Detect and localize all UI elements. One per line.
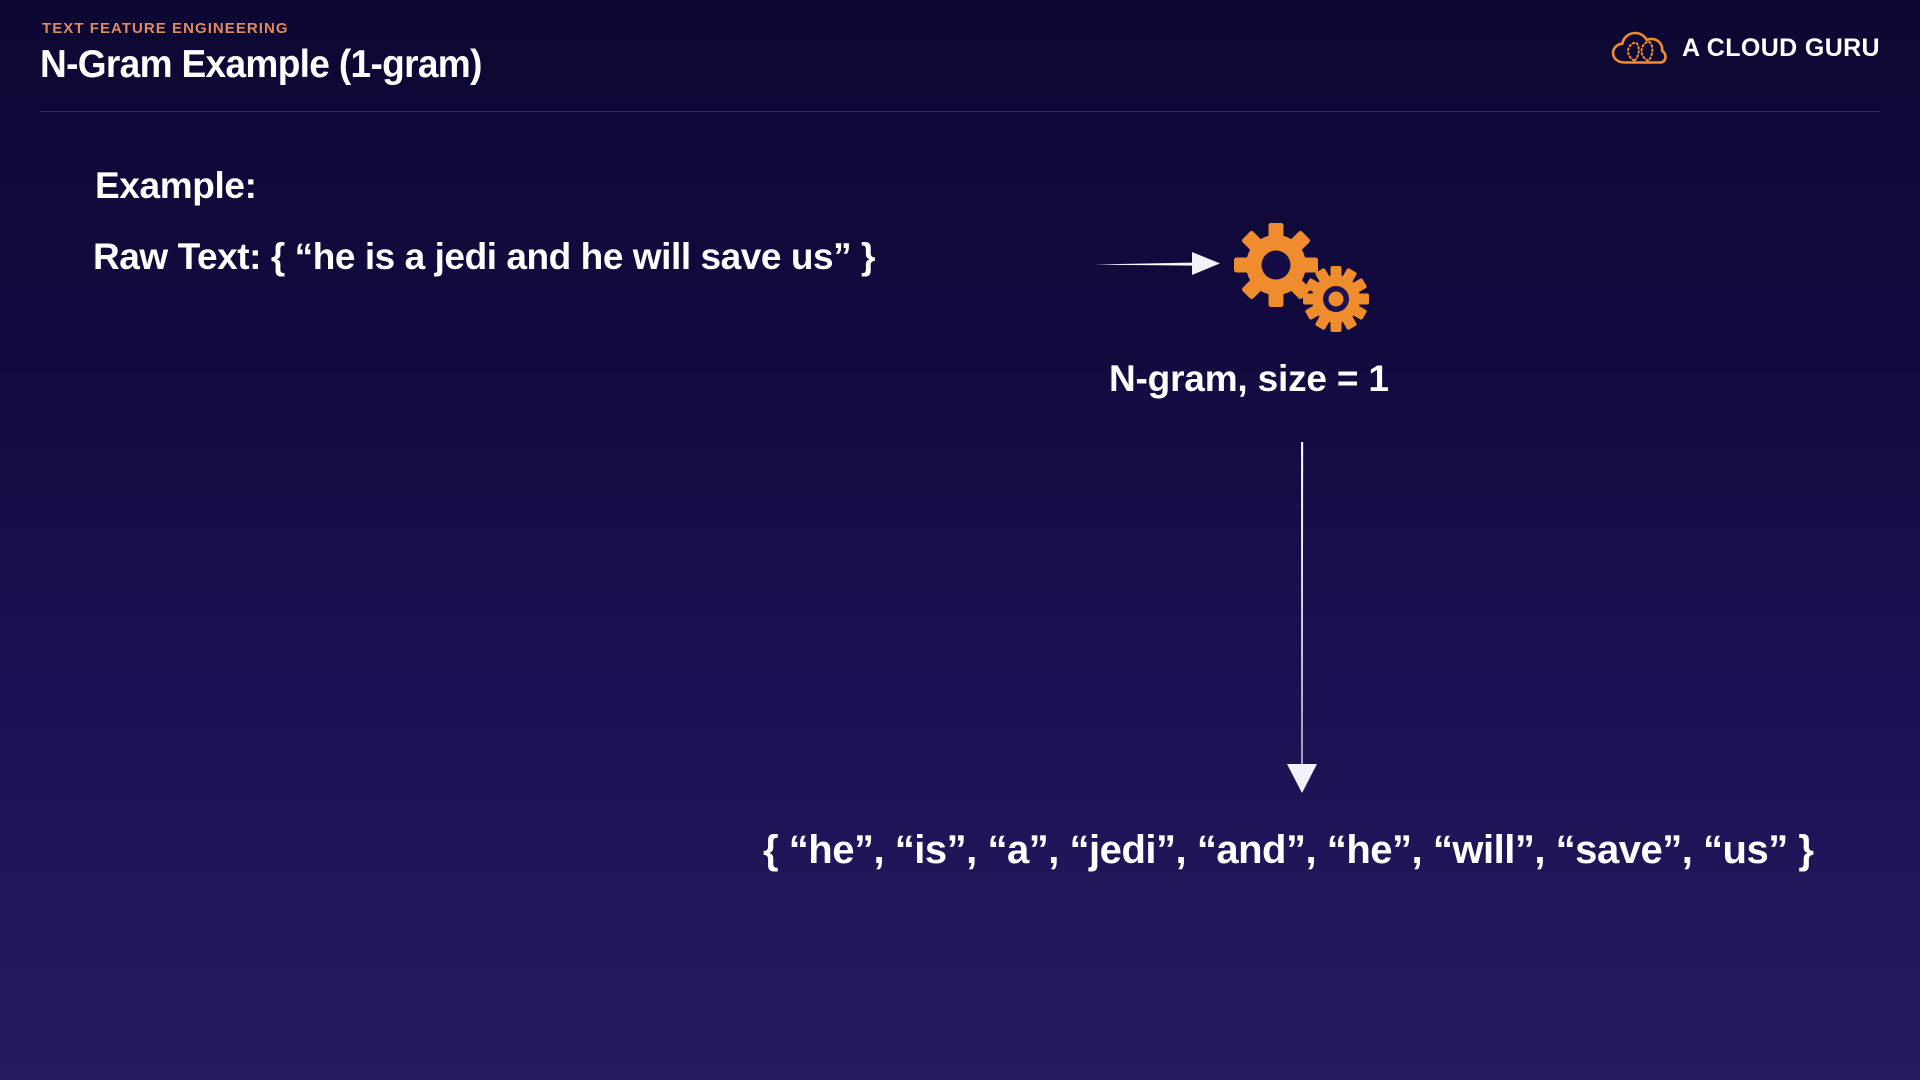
brand-logo-group: A CLOUD GURU xyxy=(1610,26,1880,70)
example-heading: Example: xyxy=(95,165,257,207)
raw-text-line: Raw Text: { “he is a jedi and he will sa… xyxy=(93,236,875,278)
header-divider xyxy=(40,111,1880,112)
arrow-right-icon xyxy=(1093,243,1233,283)
arrow-down-icon xyxy=(1280,440,1324,810)
gears-icon xyxy=(1232,223,1377,333)
page-title: N-Gram Example (1-gram) xyxy=(40,43,482,87)
brand-name-label: A CLOUD GURU xyxy=(1682,34,1880,63)
ngram-size-label: N-gram, size = 1 xyxy=(1109,358,1389,400)
cloud-icon xyxy=(1610,29,1668,67)
slide-header: TEXT FEATURE ENGINEERING N-Gram Example … xyxy=(0,0,1920,112)
header-eyebrow: TEXT FEATURE ENGINEERING xyxy=(42,20,289,37)
tokens-output-line: { “he”, “is”, “a”, “jedi”, “and”, “he”, … xyxy=(763,828,1814,873)
